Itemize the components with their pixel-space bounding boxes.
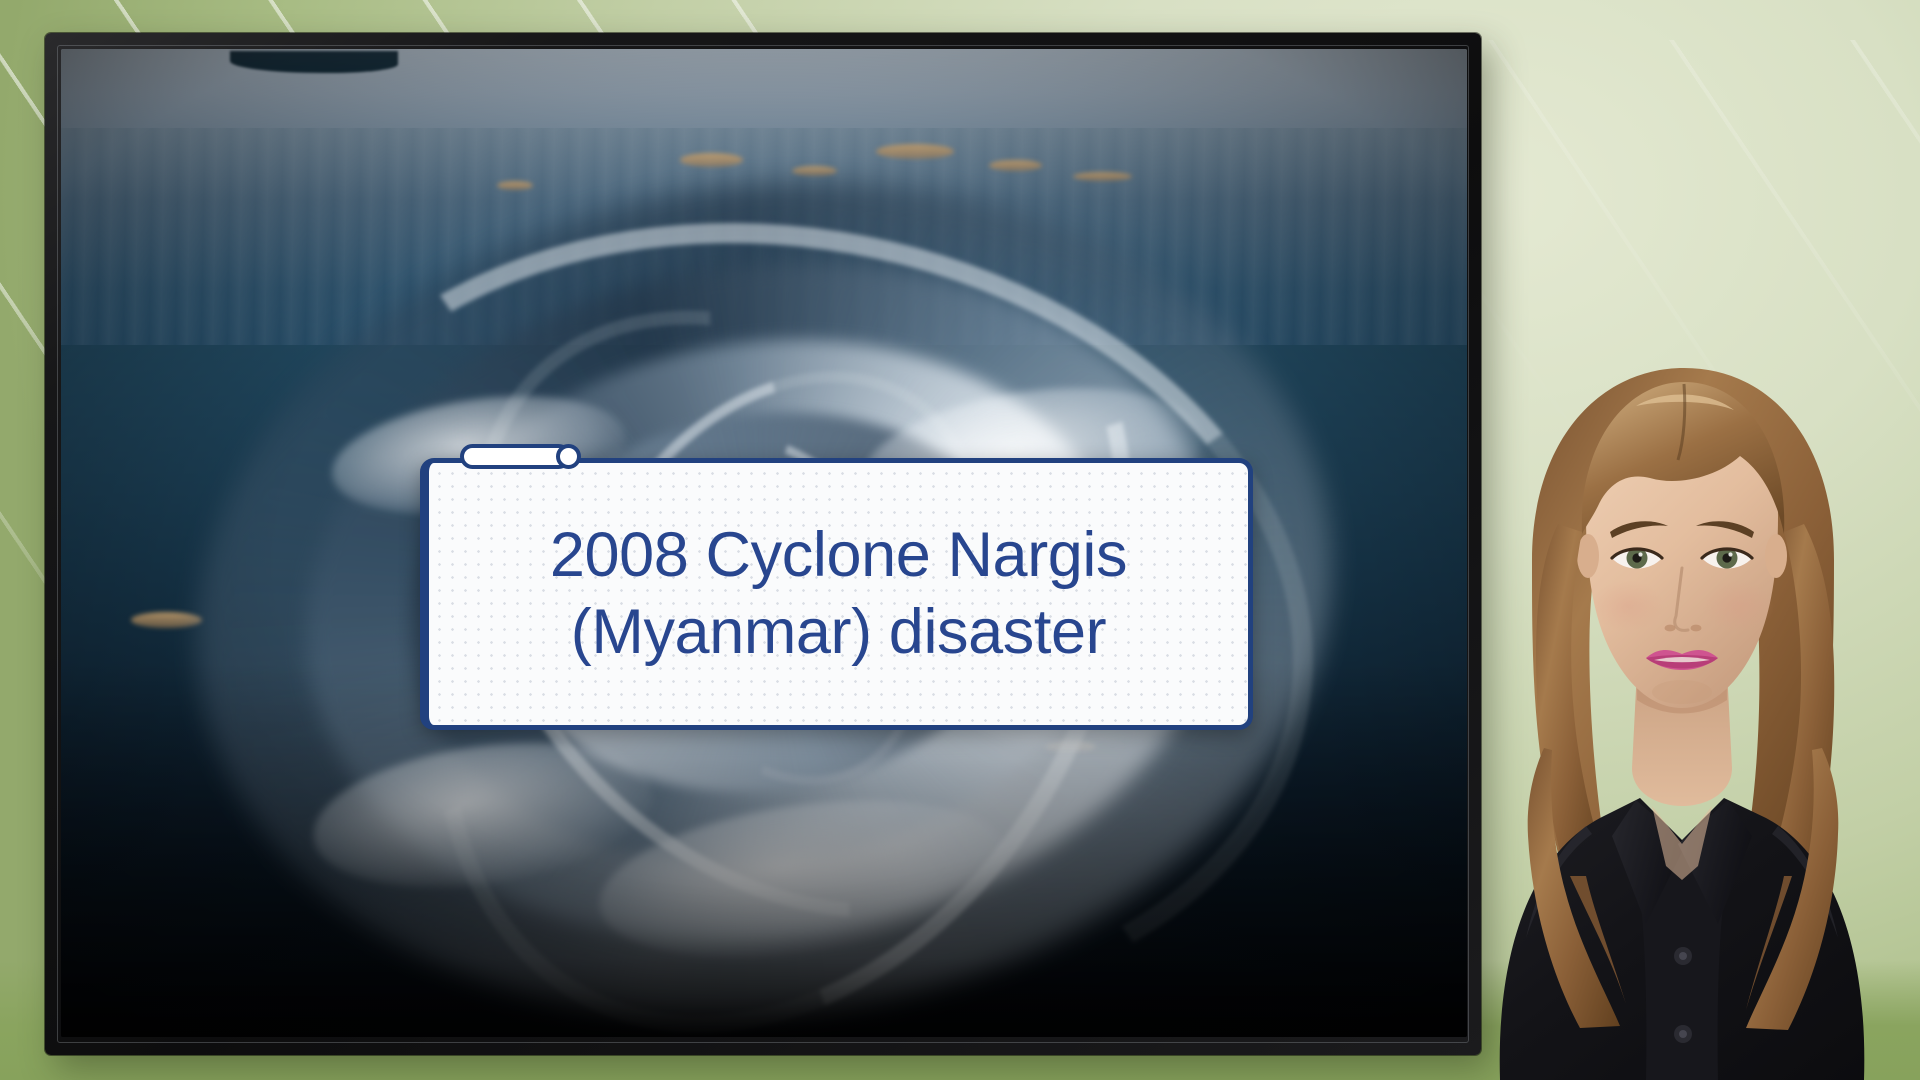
caption-tab-pill-decoration (460, 444, 571, 469)
caption-tab-dot-decoration (556, 444, 581, 469)
slide-canvas: 2008 Cyclone Nargis (Myanmar) disaster (0, 0, 1920, 1080)
presenter-blouse-button (1679, 1030, 1687, 1038)
presenter-ear-right (1765, 534, 1787, 578)
tv-display: 2008 Cyclone Nargis (Myanmar) disaster (45, 33, 1481, 1055)
presenter-figure (1440, 320, 1920, 1080)
tv-screen: 2008 Cyclone Nargis (Myanmar) disaster (61, 49, 1467, 1037)
caption-text-block: 2008 Cyclone Nargis (Myanmar) disaster (524, 517, 1153, 671)
presenter-chin-shadow (1652, 680, 1712, 704)
caption-line-1: 2008 Cyclone Nargis (550, 517, 1127, 594)
presenter-nostril-left (1665, 625, 1676, 632)
presenter-illustration (1440, 320, 1920, 1080)
presenter-blouse-button (1679, 952, 1687, 960)
caption-card[interactable]: 2008 Cyclone Nargis (Myanmar) disaster (420, 458, 1253, 730)
caption-line-2: (Myanmar) disaster (550, 594, 1127, 671)
presenter-cheek-right (1702, 580, 1774, 632)
presenter-nostril-right (1691, 625, 1702, 632)
debris-patch (680, 153, 743, 167)
presenter-cheek-left (1592, 580, 1664, 632)
